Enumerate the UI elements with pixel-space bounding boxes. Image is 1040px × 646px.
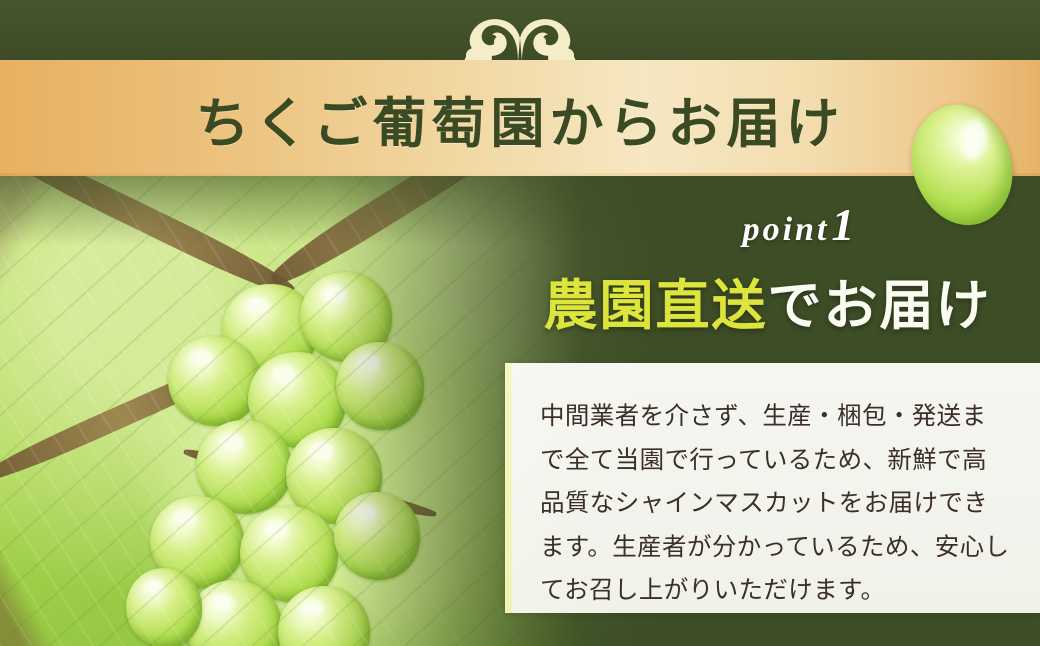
headline-plain: でお届け <box>768 261 992 340</box>
floral-scroll-ornament-icon <box>430 4 610 64</box>
point-number: 1 <box>831 198 857 251</box>
headline: 農園直送でお届け <box>495 262 1040 338</box>
description-text: 中間業者を介さず、生産・梱包・発送まで全て当園で行っているため、新鮮で高品質なシ… <box>540 395 1010 613</box>
point-label: point1 <box>690 198 910 250</box>
headline-accent: 農園直送 <box>544 261 768 340</box>
promo-banner-card: ちくご葡萄園からお届け point1 農園直送でお届け 中間業者を介さず、生産・… <box>0 0 1040 646</box>
banner-title: ちくご葡萄園からお届け <box>0 60 1040 176</box>
description-box: 中間業者を介さず、生産・梱包・発送まで全て当園で行っているため、新鮮で高品質なシ… <box>505 363 1040 613</box>
point-label-text: point <box>743 211 830 249</box>
